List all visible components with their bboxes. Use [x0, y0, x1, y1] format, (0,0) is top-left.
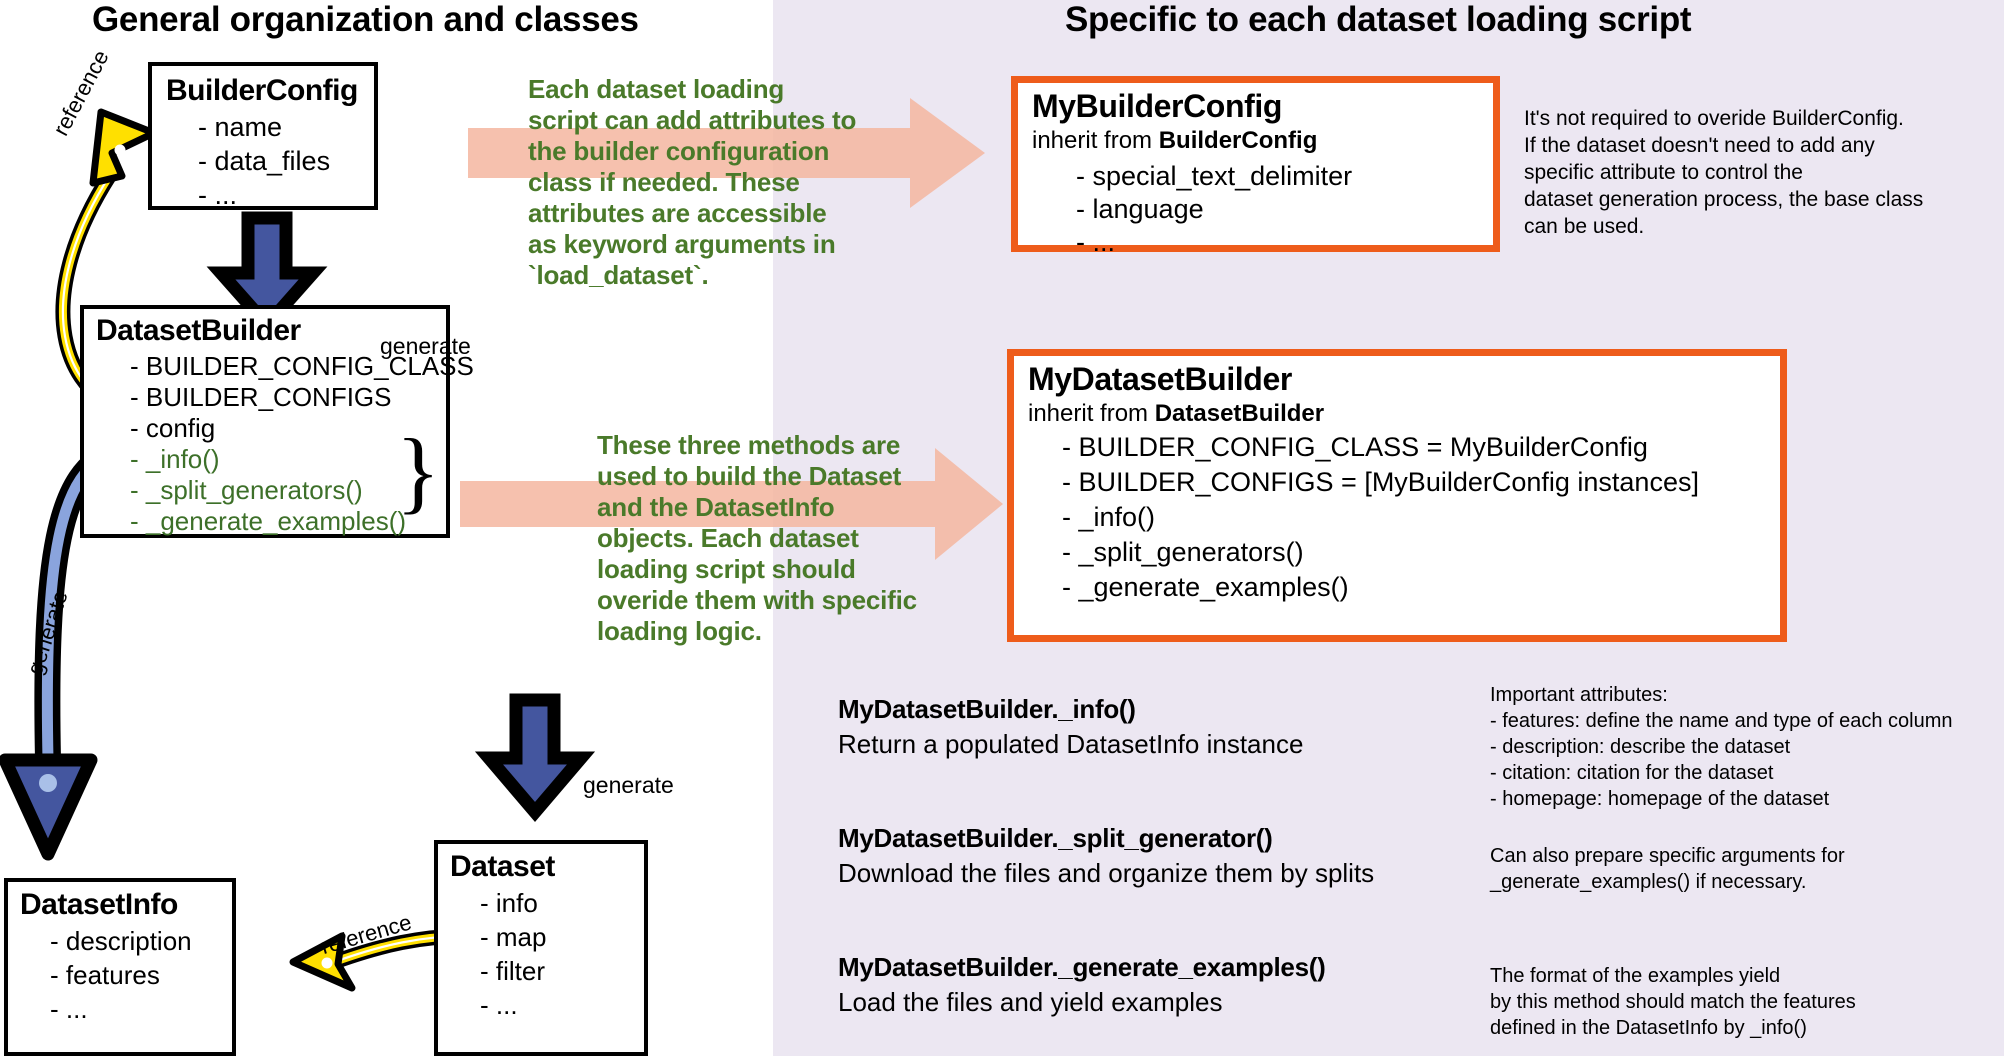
class-attribute: - BUILDER_CONFIGS [130, 382, 392, 413]
arrow-label-reference: reference [48, 46, 115, 140]
class-attribute: - BUILDER_CONFIGS = [MyBuilderConfig ins… [1062, 467, 1699, 498]
class-attribute: - map [480, 922, 546, 953]
inherit-line: inherit from BuilderConfig [1032, 127, 1317, 155]
class-attribute: - special_text_delimiter [1076, 161, 1352, 192]
arrow-label-reference: reference [318, 909, 415, 960]
class-attribute: - features [50, 960, 160, 991]
class-box-builderconfig[interactable]: BuilderConfig - name - data_files - ... [148, 62, 378, 210]
class-method: - _info() [1062, 502, 1155, 533]
note-info-attributes: Important attributes: - features: define… [1490, 682, 1953, 812]
right-panel-title: Specific to each dataset loading script [1065, 0, 1691, 40]
class-method: - _info() [130, 444, 220, 475]
note-builderconfig-optional: It's not required to overide BuilderConf… [1524, 105, 1923, 240]
arrow-label-generate: generate [583, 772, 674, 799]
class-attribute: - filter [480, 956, 545, 987]
method-title: MyDatasetBuilder._split_generator() [838, 823, 1374, 854]
inherit-parent: BuilderConfig [1159, 127, 1318, 154]
class-name: DatasetBuilder [96, 314, 301, 348]
class-attribute: - language [1076, 194, 1204, 225]
method-description-info: MyDatasetBuilder._info() Return a popula… [838, 694, 1303, 760]
generate-arrow-datasetbuilder-to-dataset [489, 700, 581, 812]
methods-group-brace: } [396, 425, 440, 517]
annotation-green-top: Each dataset loading script can add attr… [528, 74, 858, 291]
inherit-prefix: inherit from [1032, 127, 1159, 154]
class-attribute: - description [50, 926, 192, 957]
class-attribute: - ... [1076, 227, 1115, 258]
class-name: Dataset [450, 850, 555, 884]
method-description-split-generator: MyDatasetBuilder._split_generator() Down… [838, 823, 1374, 889]
class-attribute: - ... [198, 180, 237, 211]
method-description: Load the files and yield examples [838, 987, 1325, 1018]
inherit-prefix: inherit from [1028, 400, 1155, 427]
class-method: - _generate_examples() [130, 506, 406, 537]
method-description-generate-examples: MyDatasetBuilder._generate_examples() Lo… [838, 952, 1325, 1018]
class-name: MyDatasetBuilder [1028, 361, 1292, 398]
annotation-green-middle: These three methods are used to build th… [597, 430, 917, 647]
class-method: - _generate_examples() [1062, 572, 1349, 603]
class-attribute: - info [480, 888, 538, 919]
class-attribute: - ... [50, 994, 88, 1025]
note-split-generator: Can also prepare specific arguments for … [1490, 843, 1845, 895]
class-box-mydatasetbuilder[interactable]: MyDatasetBuilder inherit from DatasetBui… [1007, 349, 1787, 642]
class-attribute: - BUILDER_CONFIG_CLASS = MyBuilderConfig [1062, 432, 1648, 463]
inherit-line: inherit from DatasetBuilder [1028, 400, 1324, 428]
arrow-label-generate: generate [22, 587, 74, 678]
class-attribute: - ... [480, 990, 518, 1021]
class-box-dataset[interactable]: Dataset - info - map - filter - ... [434, 840, 648, 1056]
left-panel-title: General organization and classes [92, 0, 639, 40]
method-description: Download the files and organize them by … [838, 858, 1374, 889]
note-generate-examples: The format of the examples yield by this… [1490, 963, 1856, 1041]
class-name: BuilderConfig [166, 74, 358, 108]
class-box-datasetinfo[interactable]: DatasetInfo - description - features - .… [4, 878, 236, 1056]
class-attribute: - data_files [198, 146, 330, 177]
class-attribute: - config [130, 413, 215, 444]
method-description: Return a populated DatasetInfo instance [838, 729, 1303, 760]
class-name: DatasetInfo [20, 888, 178, 922]
method-title: MyDatasetBuilder._info() [838, 694, 1303, 725]
method-title: MyDatasetBuilder._generate_examples() [838, 952, 1325, 983]
class-method: - _split_generators() [130, 475, 363, 506]
class-attribute: - name [198, 112, 282, 143]
class-box-mybuilderconfig[interactable]: MyBuilderConfig inherit from BuilderConf… [1011, 76, 1500, 252]
class-method: - _split_generators() [1062, 537, 1304, 568]
class-name: MyBuilderConfig [1032, 88, 1282, 125]
diagram-canvas: General organization and classes Specifi… [0, 0, 2004, 1056]
inherit-parent: DatasetBuilder [1155, 400, 1324, 427]
arrow-label-generate: generate [380, 333, 471, 360]
